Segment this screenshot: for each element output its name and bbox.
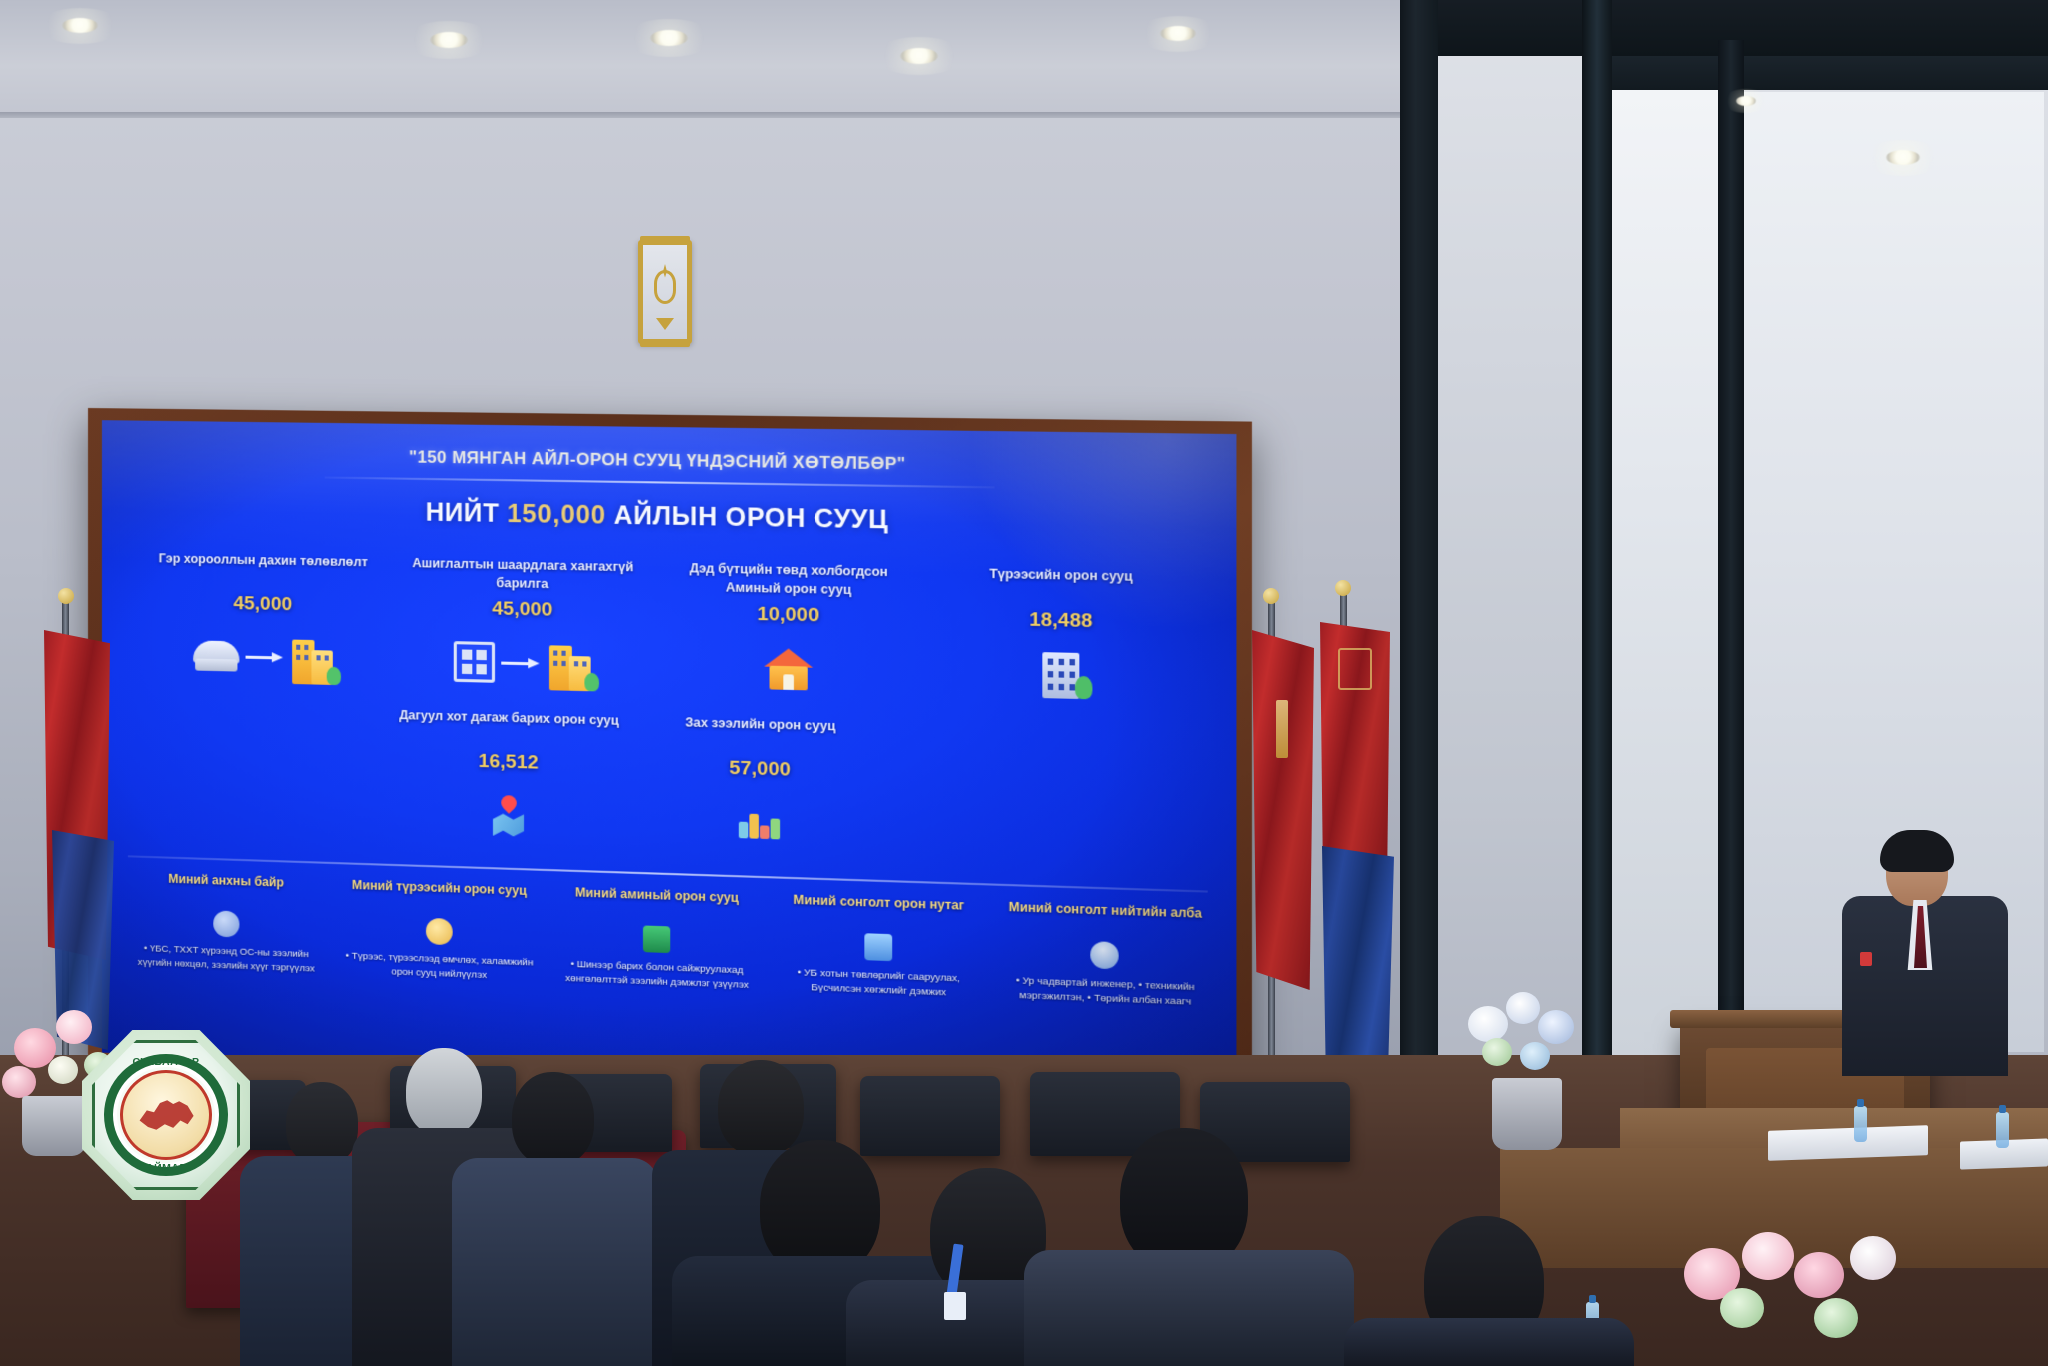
stat-value: 16,512 xyxy=(385,748,634,777)
category-text: • Ур чадвартай инженер, • техникийн мэрг… xyxy=(999,973,1212,1009)
flag-soyombo xyxy=(1276,700,1288,758)
screen-surface: "150 МЯНГАН АЙЛ-ОРОН СУУЦ ҮНДЭСНИЙ ХӨТӨЛ… xyxy=(102,420,1236,1100)
structural-column xyxy=(1400,0,1438,1080)
emblem-top-text: СҮХБААТАР xyxy=(82,1056,250,1068)
stat-card-rental-housing: Түрээсийн орон сууц 18,488 xyxy=(931,563,1192,711)
category-rural-choice: Миний сонголт орон нутаг • УБ хотын төвл… xyxy=(770,891,988,1002)
ceiling-light xyxy=(430,32,468,48)
screen-frame: "150 МЯНГАН АЙЛ-ОРОН СУУЦ ҮНДЭСНИЙ ХӨТӨЛ… xyxy=(88,408,1252,1118)
category-heading: Миний анхны байр xyxy=(128,869,325,906)
attendee-torso xyxy=(452,1158,658,1366)
stat-label: Гэр хорооллын дахин төлөвлөлт xyxy=(142,549,385,590)
flower-arrangement-center xyxy=(1452,986,1612,1166)
slide-content: "150 МЯНГАН АЙЛ-ОРОН СУУЦ ҮНДЭСНИЙ ХӨТӨЛ… xyxy=(102,420,1236,1100)
ceiling xyxy=(0,0,1480,120)
category-text: • Түрээс, түрээслээд өмчлөх, халамжийн о… xyxy=(339,949,540,984)
stat-value: 45,000 xyxy=(399,597,648,625)
category-heading: Миний сонголт орон нутаг xyxy=(774,891,983,929)
old-building-to-new-icon xyxy=(399,629,648,698)
ceiling-light xyxy=(62,18,98,33)
program-categories: Миний анхны байр • ҮБС, ТХХТ хүрээнд ОС-… xyxy=(124,869,1217,1010)
water-bottle xyxy=(1854,1106,1867,1142)
stat-value: 57,000 xyxy=(634,755,888,785)
attendee-torso xyxy=(1024,1250,1354,1366)
headline-prefix: НИЙТ xyxy=(426,498,508,528)
category-text: • ҮБС, ТХХТ хүрээнд ОС-ны зээлийн хүүгий… xyxy=(128,941,325,976)
stat-card-market-housing: Зах зээлийн орон сууц 57,000 xyxy=(634,712,888,860)
attendee-head xyxy=(286,1082,358,1166)
mongolia-map-icon xyxy=(774,926,983,969)
ceiling-light xyxy=(650,30,688,46)
wall-bay-panel xyxy=(1612,90,1718,1060)
stat-card-infrastructure-connected: Дэд бүтцийн төвд холбогдсон Аминый орон … xyxy=(661,558,916,704)
rent-coin-icon xyxy=(339,911,540,953)
category-heading: Миний сонголт нийтийн алба xyxy=(999,898,1212,937)
stat-label: Ашиглалтын шаардлага хангахгүй барилга xyxy=(399,554,648,596)
category-heading: Миний түрээсийн орон сууц xyxy=(339,876,540,913)
map-pin-icon xyxy=(385,781,634,852)
rental-building-icon xyxy=(931,640,1192,711)
category-text: • УБ хотын төвлөрлийг сааруулах, Бүсчилс… xyxy=(774,965,983,1001)
lanyard-badge xyxy=(944,1292,966,1320)
ceiling-light xyxy=(900,48,938,64)
stats-row-2: Дагуул хот дагаж барих орон сууц 16,512 … xyxy=(128,699,1208,869)
flag-cloth-red xyxy=(1252,630,1314,990)
title-divider xyxy=(325,476,994,488)
ceiling-light xyxy=(1736,96,1756,106)
category-public-service: Миний сонголт нийтийн алба • Ур чадварта… xyxy=(994,898,1216,1010)
engineer-helmet-icon xyxy=(999,934,1212,977)
stat-card-unfit-buildings: Ашиглалтын шаардлага хангахгүй барилга 4… xyxy=(399,554,648,698)
first-home-icon xyxy=(128,903,325,944)
structural-column-2 xyxy=(1582,0,1612,1060)
province-emblem-watermark: СҮХБААТАР АЙМАГ xyxy=(82,1030,250,1200)
attendee-head xyxy=(406,1048,482,1136)
headline-suffix: АЙЛЫН ОРОН СУУЦ xyxy=(606,501,889,534)
category-rental-housing: Миний түрээсийн орон сууц • Түрээс, түрэ… xyxy=(335,876,544,984)
attendee-head xyxy=(512,1072,594,1166)
ceiling-light xyxy=(1160,26,1196,41)
headline-number: 150,000 xyxy=(507,500,605,530)
category-first-home: Миний анхны байр • ҮБС, ТХХТ хүрээнд ОС-… xyxy=(124,869,329,976)
stat-label: Зах зээлийн орон сууц xyxy=(634,712,888,756)
category-heading: Миний аминый орон сууц xyxy=(555,884,760,922)
audience-chair xyxy=(860,1076,1000,1156)
stat-value: 45,000 xyxy=(142,591,385,618)
slide-headline: НИЙТ 150,000 АЙЛЫН ОРОН СУУЦ xyxy=(128,494,1208,541)
stat-label: Дагуул хот дагаж барих орон сууц xyxy=(385,706,634,749)
stat-value: 18,488 xyxy=(931,607,1192,635)
slide-title: "150 МЯНГАН АЙЛ-ОРОН СУУЦ ҮНДЭСНИЙ ХӨТӨЛ… xyxy=(128,445,1208,479)
stat-label: Дэд бүтцийн төвд холбогдсон Аминый орон … xyxy=(661,558,916,600)
attendee-head xyxy=(718,1060,804,1156)
emblem-bottom-text: АЙМАГ xyxy=(82,1162,250,1174)
ceiling-light xyxy=(1886,150,1920,165)
stat-card-satellite-city: Дагуул хот дагаж барих орон сууц 16,512 xyxy=(385,706,634,852)
conference-room-photo: "150 МЯНГАН АЙЛ-ОРОН СУУЦ ҮНДЭСНИЙ ХӨТӨЛ… xyxy=(0,0,2048,1366)
stat-value: 10,000 xyxy=(661,602,916,630)
water-bottle xyxy=(1996,1112,2009,1148)
name-plate xyxy=(1768,1125,1928,1161)
presentation-screen[interactable]: "150 МЯНГАН АЙЛ-ОРОН СУУЦ ҮНДЭСНИЙ ХӨТӨЛ… xyxy=(88,408,1252,1118)
stat-card-ger-redevelopment: Гэр хорооллын дахин төлөвлөлт 45,000 xyxy=(142,549,385,692)
ger-to-building-icon xyxy=(142,623,385,691)
house-icon xyxy=(661,635,916,705)
stat-label: Түрээсийн орон сууц xyxy=(931,563,1192,606)
ceiling-beam-secondary xyxy=(1582,56,2048,90)
category-private-house: Миний аминый орон сууц • Шинээр барих бо… xyxy=(550,883,763,992)
state-emblem xyxy=(630,240,700,360)
category-text: • Шинээр барих болон сайжруулахад хөнгөл… xyxy=(555,957,760,993)
private-house-icon xyxy=(555,918,760,960)
flower-arrangement-right xyxy=(1664,1226,1934,1366)
market-coins-icon xyxy=(634,788,888,860)
flag-emblem xyxy=(1338,648,1372,690)
stats-row-1: Гэр хорооллын дахин төлөвлөлт 45,000 xyxy=(128,549,1208,712)
attendee-torso xyxy=(1344,1318,1634,1366)
speaker-person xyxy=(1838,834,2018,1074)
structural-column-3 xyxy=(1718,40,1744,1060)
